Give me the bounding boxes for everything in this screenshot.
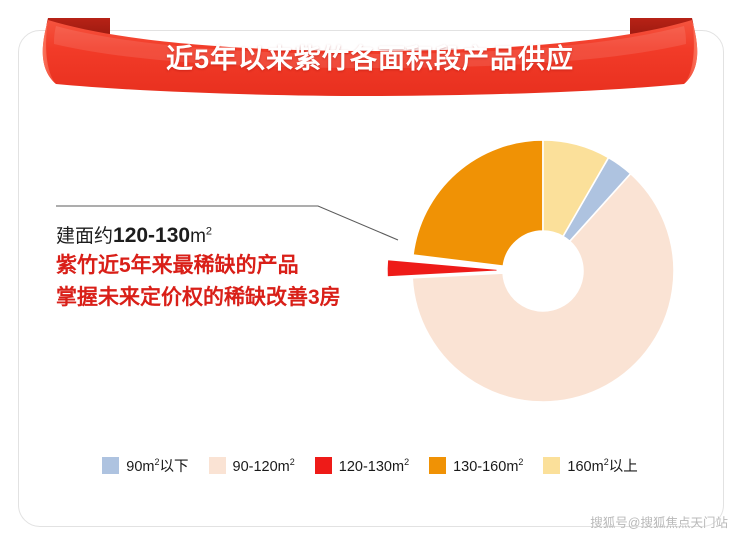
legend-swatch-icon <box>315 457 332 474</box>
legend-label: 90-120m2 <box>233 457 295 475</box>
legend-item-2[interactable]: 90-120m2 <box>209 457 295 475</box>
legend-swatch-icon <box>429 457 446 474</box>
legend-label: 130-160m2 <box>453 457 523 475</box>
callout-unit: m <box>190 226 206 247</box>
ribbon-shape <box>0 18 740 98</box>
title-ribbon: 近5年以来紫竹各面积段产品供应 <box>0 18 740 98</box>
legend-label: 120-130m2 <box>339 457 409 475</box>
legend-label: 160m2以上 <box>567 455 637 476</box>
callout-line-2: 掌握未来定价权的稀缺改善3房 <box>56 282 386 314</box>
legend-item-1[interactable]: 90m2以下 <box>102 455 188 476</box>
source-watermark: 搜狐号@搜狐焦点天门站 <box>590 512 728 531</box>
callout-area-label: 建面约120-130m2 <box>56 222 386 250</box>
legend-swatch-icon <box>102 457 119 474</box>
legend-item-4[interactable]: 130-160m2 <box>429 457 523 475</box>
callout-line-1: 紫竹近5年来最稀缺的产品 <box>56 250 386 282</box>
callout-value: 120-130 <box>113 224 190 247</box>
legend-swatch-icon <box>209 457 226 474</box>
legend-label: 90m2以下 <box>126 455 188 476</box>
legend-item-5[interactable]: 160m2以上 <box>543 455 637 476</box>
callout-unit-superscript: 2 <box>206 226 212 238</box>
legend-swatch-icon <box>543 457 560 474</box>
chart-legend: 90m2以下90-120m2120-130m2130-160m2160m2以上 <box>0 455 740 476</box>
slide-canvas: 近5年以来紫竹各面积段产品供应 建面约120-130m2 紫竹近5年来最稀缺的产… <box>0 0 740 537</box>
callout-annotation: 建面约120-130m2 紫竹近5年来最稀缺的产品 掌握未来定价权的稀缺改善3房 <box>56 222 386 313</box>
legend-item-3[interactable]: 120-130m2 <box>315 457 409 475</box>
callout-prefix: 建面约 <box>56 226 113 247</box>
